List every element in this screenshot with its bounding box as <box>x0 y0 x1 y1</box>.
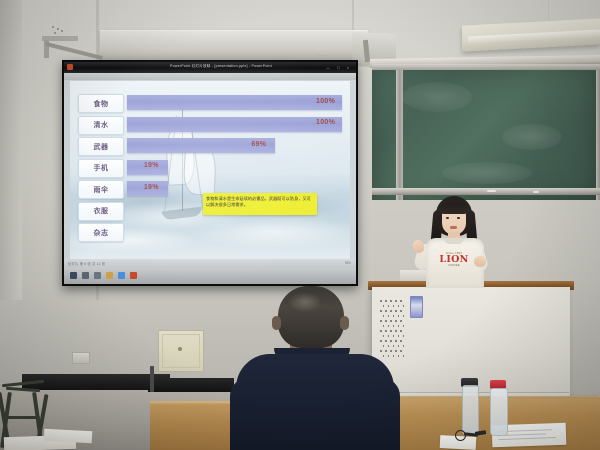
chart-bar <box>127 95 342 110</box>
window-titlebar[interactable]: PowerPoint 幻灯片放映 - [presentation.pptx] -… <box>64 62 356 73</box>
chart-category-label: 雨伞 <box>78 180 124 199</box>
slide-callout: 食物和清水是生命延续的必需品，武器既可以防身，又可以解决很多日常需求。 <box>203 193 317 215</box>
shirt-logo-sub-text: COFFEE <box>436 265 472 268</box>
slide-canvas[interactable]: 食物100%清水100%武器69%手机19%雨伞19%衣服杂志 食物和清水是生命… <box>70 81 350 259</box>
slide-counter: 幻灯片 第 6 张 共 12 张 <box>68 261 105 266</box>
blackboard-divider-right <box>596 64 600 200</box>
blackboard <box>372 64 600 200</box>
presenter-collar <box>444 238 464 244</box>
blue-sticker <box>410 296 423 318</box>
folder-icon[interactable] <box>106 272 113 279</box>
chart-value-label: 19% <box>144 184 159 191</box>
chart-row: 清水100% <box>78 114 342 135</box>
presenter-fringe <box>440 202 468 214</box>
powerpoint-logo-icon <box>67 64 73 70</box>
windows-taskbar[interactable] <box>64 268 356 284</box>
ribbon-strip <box>64 73 356 80</box>
chart-category-label: 食物 <box>78 94 124 113</box>
zoom-level[interactable]: 78% <box>344 261 351 265</box>
projection-screen-roller <box>100 30 368 61</box>
wall-conduit <box>150 366 154 392</box>
start-icon[interactable] <box>70 272 77 279</box>
bar-chart: 食物100%清水100%武器69%手机19%雨伞19%衣服杂志 <box>78 92 342 243</box>
seated-audience-member <box>230 286 400 450</box>
roller-brand-label: · · · <box>318 53 326 58</box>
search-icon[interactable] <box>82 272 89 279</box>
blackboard-frame-top <box>372 64 600 70</box>
presenter-hand-right <box>474 256 486 267</box>
powerpoint-status-bar: 幻灯片 第 6 张 共 12 张 78% <box>64 259 356 268</box>
chart-category-label: 清水 <box>78 116 124 135</box>
electrical-box <box>72 352 90 364</box>
blackboard-divider-left <box>396 64 403 200</box>
wall-anchor-dots <box>52 26 66 36</box>
chart-value-label: 19% <box>144 162 159 169</box>
chart-value-label: 100% <box>316 119 335 126</box>
shirt-logo-main-text: LION <box>436 255 472 265</box>
wall-access-panel-inner <box>162 334 200 368</box>
chalk-piece <box>487 190 496 192</box>
projected-desktop[interactable]: PowerPoint 幻灯片放映 - [presentation.pptx] -… <box>64 62 356 284</box>
callout-text: 食物和清水是生命延续的必需品，武器既可以防身，又可以解决很多日常需求。 <box>206 196 314 209</box>
window-title: PowerPoint 幻灯片放映 - [presentation.pptx] -… <box>146 64 296 69</box>
baseboard-right <box>148 378 234 392</box>
blackboard-chalk-tray <box>372 188 600 195</box>
panel-latch <box>178 347 182 351</box>
floor-papers-2 <box>44 429 93 443</box>
chart-row: 武器69% <box>78 135 342 156</box>
explorer-icon[interactable] <box>94 272 101 279</box>
classroom-scene: · · · PowerPoint 幻灯片放映 - [presentation.p… <box>0 0 600 450</box>
shirt-logo: Since 1893 LION COFFEE <box>436 252 472 267</box>
glass-bottle <box>462 385 479 435</box>
chart-value-label: 69% <box>251 141 266 148</box>
chart-category-label: 武器 <box>78 137 124 156</box>
browser-icon[interactable] <box>118 272 125 279</box>
presenter: Since 1893 LION COFFEE <box>412 196 496 288</box>
chart-category-label: 衣服 <box>78 202 124 221</box>
presenter-mouth <box>450 226 457 229</box>
chart-row: 食物100% <box>78 92 342 113</box>
chalk-piece <box>533 191 539 193</box>
powerpoint-icon[interactable] <box>130 272 137 279</box>
chart-value-label: 100% <box>316 98 335 105</box>
chart-bar <box>127 117 342 132</box>
chart-row: 手机19% <box>78 157 342 178</box>
wall-left-edge <box>0 0 22 300</box>
man-head-highlight <box>288 292 322 312</box>
man-torso <box>236 354 394 450</box>
window-controls[interactable]: — □ × <box>326 65 352 70</box>
water-bottle <box>490 388 508 436</box>
chart-row: 杂志 <box>78 221 342 242</box>
chart-category-label: 杂志 <box>78 223 124 242</box>
chart-category-label: 手机 <box>78 159 124 178</box>
keys <box>455 430 489 440</box>
